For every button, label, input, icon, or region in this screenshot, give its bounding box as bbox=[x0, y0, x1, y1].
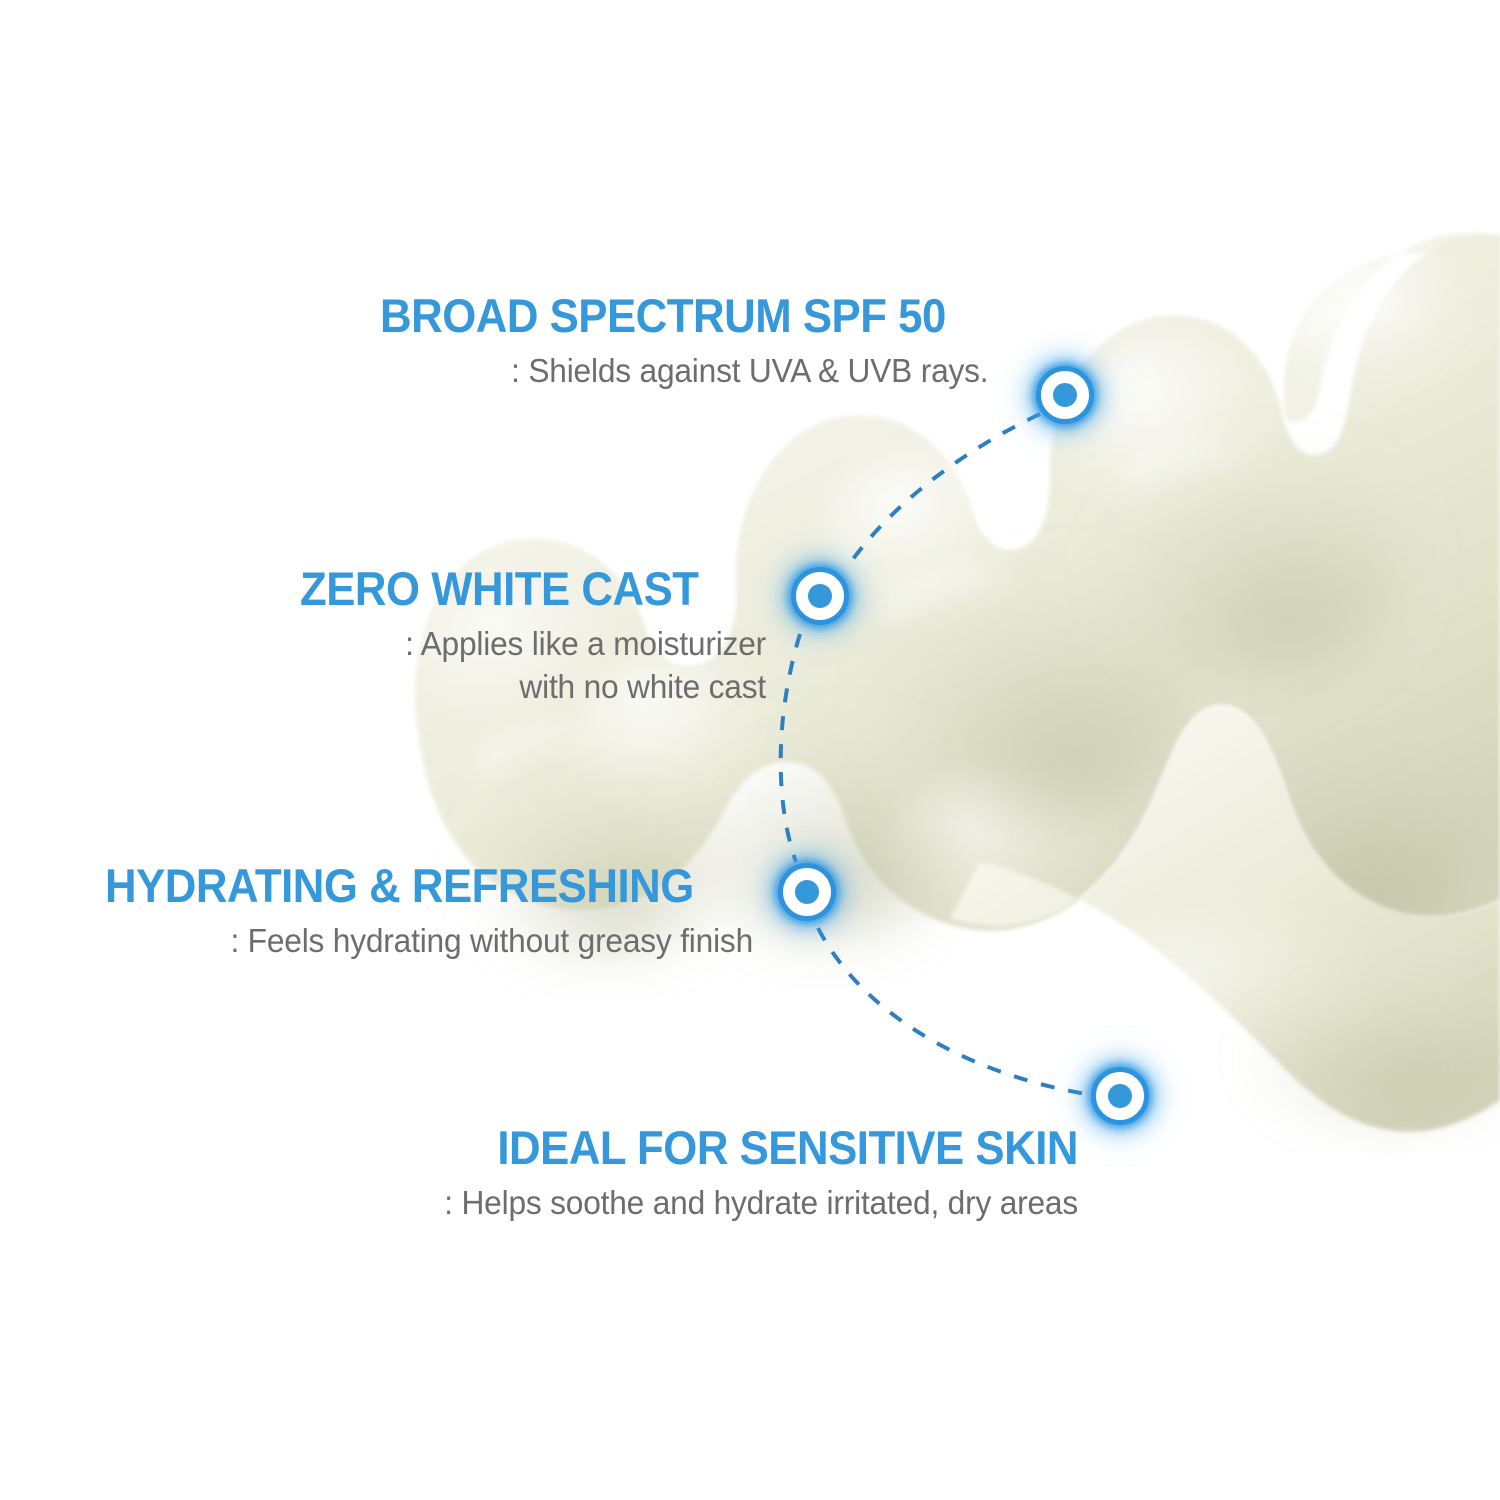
feature-description: : Applies like a moisturizer with no whi… bbox=[319, 623, 766, 709]
feature-title: IDEAL FOR SENSITIVE SKIN bbox=[410, 1124, 1078, 1173]
feature-title: BROAD SPECTRUM SPF 50 bbox=[380, 292, 946, 341]
feature-description: : Helps soothe and hydrate irritated, dr… bbox=[389, 1182, 1078, 1225]
marker-dot-icon-1 bbox=[1036, 366, 1094, 424]
marker-dot-core bbox=[1108, 1084, 1132, 1108]
sunscreen-cream-swatch bbox=[0, 0, 1500, 1500]
feature-description: : Shields against UVA & UVB rays. bbox=[404, 350, 988, 393]
feature-broad-spectrum-spf-50: BROAD SPECTRUM SPF 50 : Shields against … bbox=[380, 292, 988, 393]
marker-dot-icon-2 bbox=[791, 567, 849, 625]
feature-ideal-for-sensitive-skin: IDEAL FOR SENSITIVE SKIN : Helps soothe … bbox=[360, 1124, 1078, 1225]
marker-dot-core bbox=[795, 880, 819, 904]
marker-dot-icon-4 bbox=[1091, 1067, 1149, 1125]
marker-dot-core bbox=[1053, 383, 1077, 407]
dashed-connector-path bbox=[0, 0, 1500, 1500]
feature-zero-white-cast: ZERO WHITE CAST : Applies like a moistur… bbox=[300, 565, 766, 709]
marker-dot-icon-3 bbox=[778, 863, 836, 921]
feature-title: ZERO WHITE CAST bbox=[300, 565, 733, 614]
infographic-canvas: BROAD SPECTRUM SPF 50 : Shields against … bbox=[0, 0, 1500, 1500]
feature-hydrating-and-refreshing: HYDRATING & REFRESHING : Feels hydrating… bbox=[105, 862, 753, 963]
marker-dot-core bbox=[808, 584, 832, 608]
feature-title: HYDRATING & REFRESHING bbox=[105, 862, 708, 911]
feature-description: : Feels hydrating without greasy finish bbox=[131, 920, 753, 963]
